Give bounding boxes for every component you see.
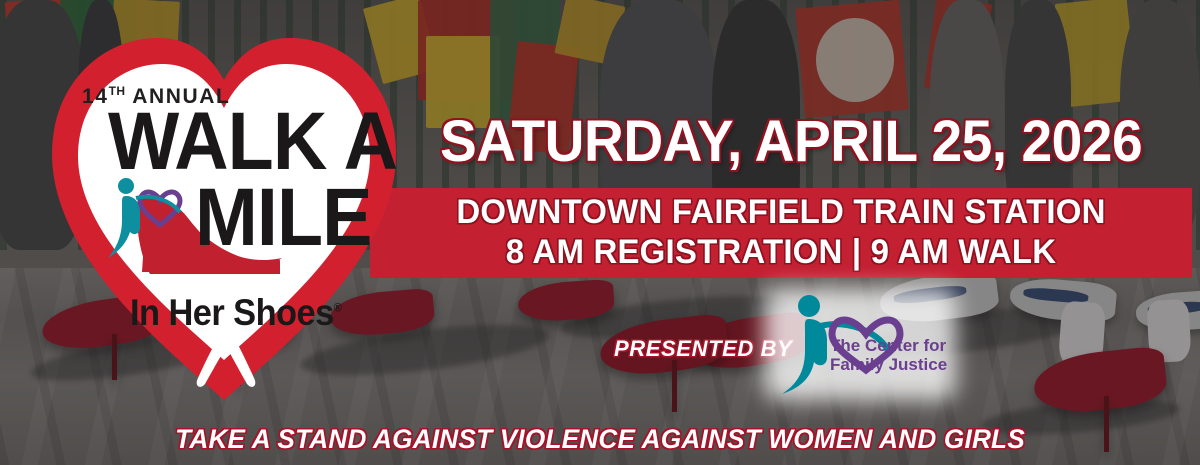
logo-in-her-shoes-text: In Her Shoes [130,292,334,333]
campaign-tagline: TAKE A STAND AGAINST VIOLENCE AGAINST WO… [18,424,1182,455]
logo-line-mile: MILE [195,180,372,255]
event-date-headline: SATURDAY, APRIL 25, 2026 [440,108,1143,175]
logo-annual-number: 14 [82,85,109,108]
registered-trademark-icon: ® [334,301,342,315]
event-times: 8 AM REGISTRATION | 9 AM WALK [382,233,1179,272]
sponsor-name-line1: The Center for [830,336,947,355]
event-promo-banner: 14TH ANNUAL WALK A MILE In Her Shoes® SA… [0,0,1200,465]
sponsor-logo: The Center for Family Justice [770,292,950,396]
logo-line-in-her-shoes: In Her Shoes® [130,292,341,334]
walk-a-mile-heart-logo: 14TH ANNUAL WALK A MILE In Her Shoes® [30,22,418,408]
event-location: DOWNTOWN FAIRFIELD TRAIN STATION [382,193,1179,232]
sponsor-name-line2: Family Justice [830,355,947,374]
logo-line-walk-a: WALK A [108,104,397,179]
sponsor-name: The Center for Family Justice [830,336,947,374]
